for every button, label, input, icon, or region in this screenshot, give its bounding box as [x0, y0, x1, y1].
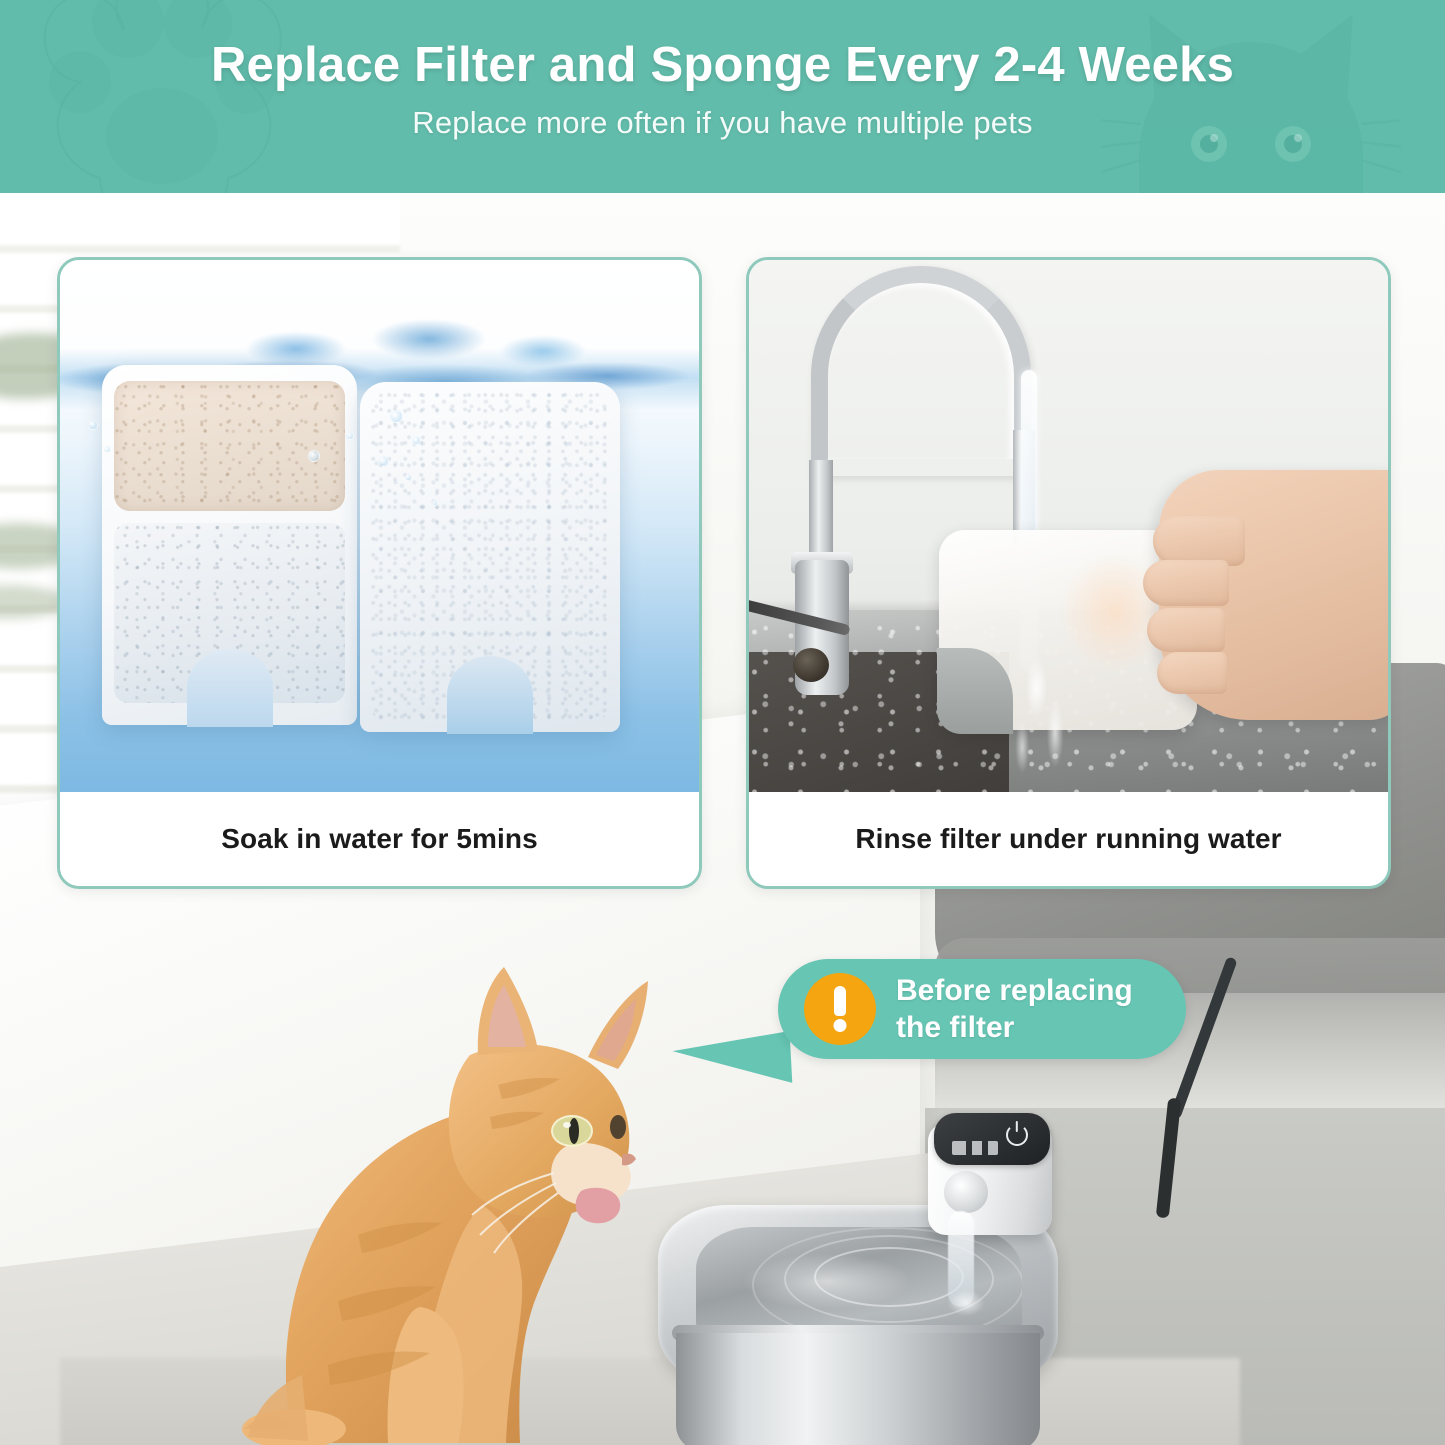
callout-line-2: the filter [896, 1009, 1133, 1046]
soak-photo [60, 260, 699, 798]
carbon-layer [114, 381, 345, 511]
bubble [378, 456, 389, 467]
banner-subtitle: Replace more often if you have multiple … [0, 105, 1445, 141]
header-banner: Replace Filter and Sponge Every 2-4 Week… [0, 0, 1445, 193]
bubble [412, 436, 421, 445]
finger [1147, 608, 1225, 652]
filter-cartridge-carbon [102, 365, 357, 725]
bubble [104, 446, 111, 453]
thumb [1153, 516, 1245, 566]
filter-notch [447, 656, 533, 734]
rinse-photo [749, 260, 1388, 798]
power-icon[interactable] [1006, 1124, 1028, 1146]
water-crest [220, 320, 600, 368]
bubble [88, 420, 98, 430]
panel-soak: Soak in water for 5mins [57, 257, 702, 889]
exclamation-icon [804, 973, 876, 1045]
sponge-filter [360, 382, 620, 732]
water-splash [934, 1275, 998, 1331]
finger [1157, 652, 1227, 694]
bubble [432, 500, 438, 506]
carbon-texture [114, 381, 345, 511]
faucet-knob[interactable] [793, 648, 829, 682]
product-infographic: MAX Before replacing the filter [0, 0, 1445, 1445]
bubble [346, 432, 354, 440]
filter-notch [187, 649, 273, 727]
cat-photo [182, 905, 712, 1445]
pump-nozzle [944, 1171, 988, 1213]
bubble [308, 450, 320, 462]
panel-caption: Rinse filter under running water [749, 792, 1388, 886]
pump-control-panel[interactable] [934, 1113, 1050, 1165]
fountain-base: MAX [676, 1333, 1040, 1445]
mode-icon[interactable] [952, 1141, 998, 1155]
faucet-arc [811, 266, 1031, 476]
bubble [390, 410, 403, 423]
bubble [405, 474, 412, 481]
callout-bubble: Before replacing the filter [778, 959, 1186, 1059]
exclamation-bar [834, 986, 846, 1016]
callout-text: Before replacing the filter [896, 972, 1133, 1046]
panel-rinse: Rinse filter under running water [746, 257, 1391, 889]
water-splash [987, 660, 1097, 798]
banner-text-group: Replace Filter and Sponge Every 2-4 Week… [0, 0, 1445, 141]
callout-line-1: Before replacing [896, 972, 1133, 1009]
finger [1143, 560, 1229, 606]
banner-title: Replace Filter and Sponge Every 2-4 Week… [0, 40, 1445, 92]
exclamation-dot [834, 1019, 847, 1032]
water-fountain: MAX [648, 1085, 1108, 1445]
callout-tail [672, 1031, 793, 1089]
panel-caption: Soak in water for 5mins [60, 792, 699, 886]
